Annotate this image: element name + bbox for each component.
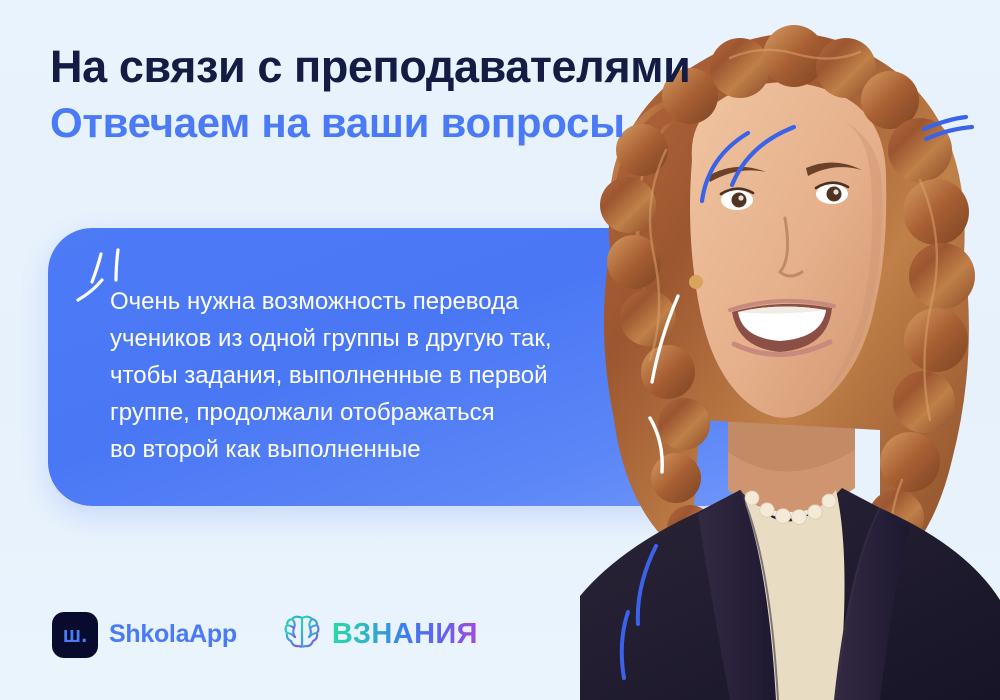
bubble-line-4: группе, продолжали отображаться — [110, 394, 670, 431]
footer-logos: ш. ShkolaApp — [52, 611, 478, 658]
headline-line-2: Отвечаем на ваши вопросы — [50, 102, 880, 144]
headline-line-1: На связи с преподавателями — [50, 44, 880, 89]
bubble-line-3: чтобы задания, выполненные в первой — [110, 357, 670, 394]
bubble-line-5: во второй как выполненные — [110, 431, 670, 468]
logo-vznaniya[interactable]: ВЗНАНИЯ — [281, 611, 478, 658]
bubble-line-1: Очень нужна возможность перевода — [110, 283, 670, 320]
shkolaapp-wordmark: ShkolaApp — [109, 620, 237, 649]
brain-icon — [281, 611, 323, 658]
logo-shkolaapp[interactable]: ш. ShkolaApp — [52, 612, 237, 658]
bubble-line-2: учеников из одной группы в другую так, — [110, 320, 670, 357]
speech-bubble-text: Очень нужна возможность перевода ученико… — [110, 283, 670, 468]
vznaniya-wordmark: ВЗНАНИЯ — [332, 618, 478, 651]
headline-block: На связи с преподавателями Отвечаем на в… — [50, 44, 880, 144]
promo-poster: На связи с преподавателями Отвечаем на в… — [0, 0, 1000, 700]
shkolaapp-mark-icon: ш. — [52, 612, 98, 658]
